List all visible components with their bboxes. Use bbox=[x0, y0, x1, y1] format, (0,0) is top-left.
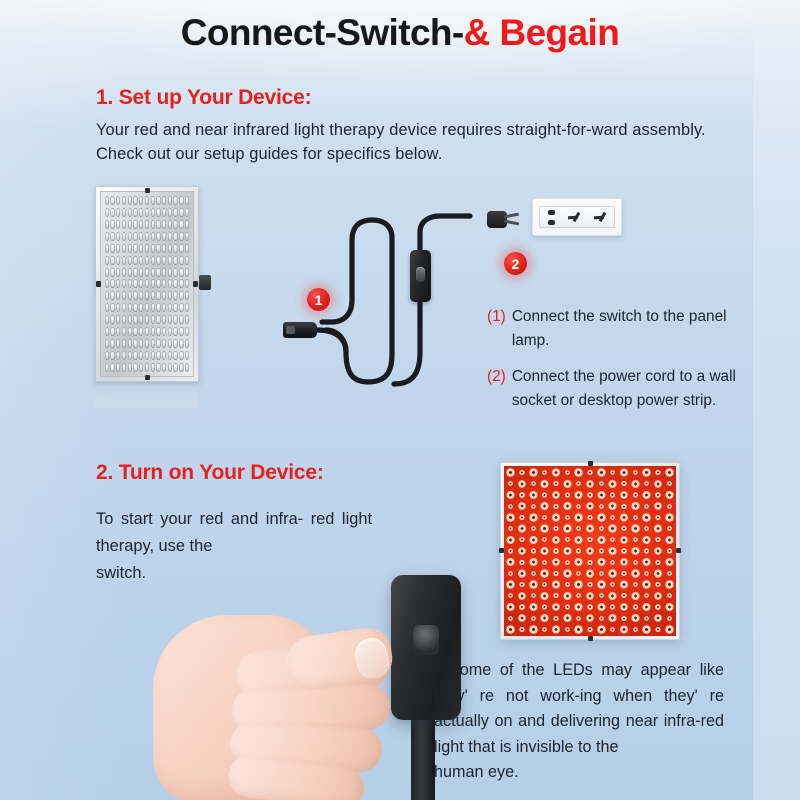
led-lit bbox=[596, 613, 607, 624]
led-lit bbox=[652, 590, 663, 601]
led-lit bbox=[607, 489, 618, 500]
led-lit bbox=[641, 489, 652, 500]
led-lit bbox=[607, 478, 618, 489]
led-lit bbox=[573, 579, 584, 590]
panel-face-lit bbox=[504, 466, 676, 636]
led-lit bbox=[607, 523, 618, 534]
led-lit bbox=[573, 545, 584, 556]
led-lit bbox=[618, 613, 629, 624]
rocker-toggle[interactable] bbox=[416, 267, 425, 282]
inline-rocker-switch[interactable] bbox=[410, 250, 431, 302]
led-lit bbox=[596, 557, 607, 568]
led-lit bbox=[516, 512, 527, 523]
led-lit bbox=[539, 467, 550, 478]
led-lit bbox=[539, 512, 550, 523]
led-unlit bbox=[184, 314, 190, 326]
led-lit bbox=[584, 579, 595, 590]
socket-outlet-1 bbox=[546, 210, 557, 225]
instruction-text-1: Connect the switch to the panel lamp. bbox=[512, 305, 742, 352]
instruction-list: (1) Connect the switch to the panel lamp… bbox=[487, 305, 742, 425]
led-lit bbox=[607, 501, 618, 512]
led-lit bbox=[618, 545, 629, 556]
led-lit bbox=[630, 557, 641, 568]
led-lit bbox=[562, 489, 573, 500]
led-unlit bbox=[184, 219, 190, 231]
led-lit bbox=[573, 601, 584, 612]
led-unlit bbox=[184, 349, 190, 361]
led-lit bbox=[516, 545, 527, 556]
led-lit bbox=[528, 501, 539, 512]
led-lit bbox=[573, 613, 584, 624]
led-lit bbox=[607, 624, 618, 635]
led-unlit bbox=[184, 302, 190, 314]
led-lit bbox=[618, 601, 629, 612]
led-lit bbox=[528, 467, 539, 478]
led-lit bbox=[516, 523, 527, 534]
led-lit bbox=[607, 579, 618, 590]
panel-face bbox=[100, 191, 194, 377]
led-lit bbox=[505, 590, 516, 601]
led-lit bbox=[618, 534, 629, 545]
led-lit bbox=[516, 534, 527, 545]
led-lit bbox=[562, 557, 573, 568]
led-lit bbox=[596, 601, 607, 612]
socket-plate bbox=[539, 206, 615, 228]
led-lit bbox=[516, 501, 527, 512]
led-lit bbox=[607, 512, 618, 523]
led-lit bbox=[550, 467, 561, 478]
led-lit bbox=[618, 557, 629, 568]
led-lit bbox=[516, 624, 527, 635]
led-lit bbox=[505, 568, 516, 579]
led-lit bbox=[573, 501, 584, 512]
led-lit bbox=[528, 534, 539, 545]
led-lit bbox=[596, 501, 607, 512]
led-lit bbox=[664, 568, 675, 579]
led-lit bbox=[539, 501, 550, 512]
led-lit bbox=[528, 512, 539, 523]
led-lit bbox=[516, 579, 527, 590]
led-lit bbox=[630, 624, 641, 635]
led-lit bbox=[505, 601, 516, 612]
led-lit bbox=[573, 590, 584, 601]
led-lit bbox=[652, 624, 663, 635]
led-lit bbox=[550, 489, 561, 500]
led-lit bbox=[562, 568, 573, 579]
led-lit bbox=[573, 467, 584, 478]
led-lit bbox=[664, 512, 675, 523]
led-lit bbox=[641, 624, 652, 635]
handheld-rocker-toggle[interactable] bbox=[413, 625, 439, 655]
led-lit bbox=[641, 601, 652, 612]
led-lit bbox=[596, 590, 607, 601]
page-title: Connect-Switch-& Begain bbox=[0, 12, 800, 54]
led-lit bbox=[584, 512, 595, 523]
footnote-line-main: * Some of the LEDs may appear like they'… bbox=[434, 661, 724, 756]
led-lit bbox=[550, 590, 561, 601]
page-title-accent: & Begain bbox=[464, 12, 620, 53]
led-lit bbox=[562, 601, 573, 612]
led-lit bbox=[664, 613, 675, 624]
led-lit bbox=[630, 613, 641, 624]
led-lit bbox=[618, 590, 629, 601]
led-lit bbox=[652, 613, 663, 624]
instruction-number-1: (1) bbox=[487, 305, 506, 352]
led-lit bbox=[584, 523, 595, 534]
led-lit bbox=[652, 601, 663, 612]
led-lit bbox=[641, 534, 652, 545]
led-lit bbox=[584, 478, 595, 489]
section-1-heading: 1. Set up Your Device: bbox=[96, 86, 311, 110]
socket-outlet-3 bbox=[594, 211, 609, 224]
led-lit bbox=[528, 478, 539, 489]
led-lit bbox=[562, 512, 573, 523]
led-lit bbox=[539, 568, 550, 579]
led-unlit bbox=[184, 361, 190, 373]
led-lit bbox=[664, 545, 675, 556]
led-lit bbox=[562, 478, 573, 489]
led-lit bbox=[641, 501, 652, 512]
led-lit bbox=[528, 579, 539, 590]
led-unlit bbox=[184, 242, 190, 254]
led-panel-lit bbox=[500, 462, 680, 640]
led-lit bbox=[550, 601, 561, 612]
led-grid-lit bbox=[505, 467, 675, 635]
led-lit bbox=[630, 545, 641, 556]
led-lit bbox=[630, 478, 641, 489]
wall-socket bbox=[532, 198, 622, 236]
led-lit bbox=[641, 478, 652, 489]
led-lit bbox=[539, 534, 550, 545]
led-unlit bbox=[184, 337, 190, 349]
led-lit bbox=[562, 534, 573, 545]
led-lit bbox=[550, 523, 561, 534]
led-lit bbox=[562, 545, 573, 556]
led-lit bbox=[630, 523, 641, 534]
mount-hole-top bbox=[145, 188, 150, 193]
mount-hole-bottom bbox=[145, 375, 150, 380]
led-lit bbox=[562, 624, 573, 635]
led-lit bbox=[584, 624, 595, 635]
led-lit bbox=[618, 512, 629, 523]
led-lit bbox=[528, 523, 539, 534]
led-lit bbox=[664, 523, 675, 534]
led-lit bbox=[516, 489, 527, 500]
mount-hole-right-lit bbox=[676, 548, 681, 553]
led-lit bbox=[539, 613, 550, 624]
section-2-line-1: To start your red and infra- bbox=[96, 510, 303, 528]
led-lit bbox=[550, 613, 561, 624]
led-lit bbox=[641, 557, 652, 568]
instruction-item-2: (2) Connect the power cord to a wall soc… bbox=[487, 365, 742, 412]
led-lit bbox=[641, 467, 652, 478]
footnote-text: * Some of the LEDs may appear like they'… bbox=[434, 658, 724, 786]
led-lit bbox=[618, 568, 629, 579]
led-lit bbox=[607, 568, 618, 579]
switch-cord bbox=[411, 712, 435, 800]
two-prong-plug bbox=[487, 207, 521, 231]
led-lit bbox=[528, 590, 539, 601]
led-lit bbox=[539, 557, 550, 568]
led-unlit bbox=[184, 254, 190, 266]
section-2-heading: 2. Turn on Your Device: bbox=[96, 461, 324, 485]
led-lit bbox=[664, 624, 675, 635]
led-lit bbox=[573, 624, 584, 635]
led-lit bbox=[630, 534, 641, 545]
led-lit bbox=[652, 467, 663, 478]
led-lit bbox=[516, 467, 527, 478]
mount-hole-top-lit bbox=[588, 461, 593, 466]
led-lit bbox=[652, 557, 663, 568]
led-lit bbox=[584, 534, 595, 545]
led-lit bbox=[618, 478, 629, 489]
led-lit bbox=[505, 557, 516, 568]
led-lit bbox=[584, 467, 595, 478]
led-lit bbox=[562, 590, 573, 601]
led-lit bbox=[516, 601, 527, 612]
led-lit bbox=[505, 545, 516, 556]
led-unlit bbox=[184, 290, 190, 302]
led-lit bbox=[505, 624, 516, 635]
section-1-body: Your red and near infrared light therapy… bbox=[96, 118, 716, 166]
led-lit bbox=[505, 534, 516, 545]
led-lit bbox=[584, 590, 595, 601]
led-lit bbox=[562, 613, 573, 624]
led-lit bbox=[630, 579, 641, 590]
led-lit bbox=[630, 568, 641, 579]
led-lit bbox=[596, 579, 607, 590]
led-lit bbox=[664, 590, 675, 601]
led-lit bbox=[505, 501, 516, 512]
led-lit bbox=[596, 534, 607, 545]
led-lit bbox=[596, 624, 607, 635]
led-lit bbox=[573, 489, 584, 500]
led-lit bbox=[618, 489, 629, 500]
instruction-text-2: Connect the power cord to a wall socket … bbox=[512, 365, 742, 412]
led-lit bbox=[550, 478, 561, 489]
led-lit bbox=[550, 568, 561, 579]
led-lit bbox=[584, 613, 595, 624]
led-lit bbox=[652, 545, 663, 556]
led-lit bbox=[641, 512, 652, 523]
mount-hole-right bbox=[193, 281, 198, 287]
led-lit bbox=[550, 579, 561, 590]
led-lit bbox=[664, 489, 675, 500]
led-lit bbox=[516, 478, 527, 489]
led-lit bbox=[652, 512, 663, 523]
led-lit bbox=[652, 478, 663, 489]
led-lit bbox=[618, 523, 629, 534]
led-lit bbox=[505, 512, 516, 523]
led-lit bbox=[641, 523, 652, 534]
led-unlit bbox=[184, 278, 190, 290]
footnote-line-last: human eye. bbox=[434, 760, 724, 786]
led-lit bbox=[596, 489, 607, 500]
led-lit bbox=[618, 624, 629, 635]
led-lit bbox=[596, 478, 607, 489]
led-lit bbox=[618, 501, 629, 512]
led-lit bbox=[539, 489, 550, 500]
led-lit bbox=[562, 467, 573, 478]
led-lit bbox=[562, 579, 573, 590]
led-lit bbox=[607, 545, 618, 556]
led-lit bbox=[664, 467, 675, 478]
led-lit bbox=[573, 568, 584, 579]
led-lit bbox=[596, 467, 607, 478]
led-lit bbox=[584, 501, 595, 512]
led-lit bbox=[618, 467, 629, 478]
led-lit bbox=[652, 534, 663, 545]
led-lit bbox=[607, 534, 618, 545]
led-lit bbox=[630, 501, 641, 512]
callout-badge-1: 1 bbox=[307, 288, 330, 311]
led-lit bbox=[573, 534, 584, 545]
led-lit bbox=[664, 501, 675, 512]
led-lit bbox=[505, 579, 516, 590]
led-lit bbox=[630, 601, 641, 612]
led-panel-unlit bbox=[95, 186, 199, 382]
led-lit bbox=[539, 624, 550, 635]
led-grid-unlit bbox=[103, 194, 191, 374]
led-lit bbox=[652, 489, 663, 500]
led-lit bbox=[528, 545, 539, 556]
iec-connector bbox=[283, 322, 317, 338]
led-lit bbox=[664, 579, 675, 590]
led-lit bbox=[641, 568, 652, 579]
led-lit bbox=[618, 579, 629, 590]
callout-badge-2: 2 bbox=[504, 252, 527, 275]
led-unlit bbox=[184, 231, 190, 243]
led-lit bbox=[596, 512, 607, 523]
led-lit bbox=[505, 523, 516, 534]
socket-outlet-2 bbox=[568, 211, 583, 224]
led-lit bbox=[596, 523, 607, 534]
led-lit bbox=[562, 523, 573, 534]
led-lit bbox=[516, 590, 527, 601]
led-lit bbox=[573, 557, 584, 568]
led-lit bbox=[641, 579, 652, 590]
led-lit bbox=[528, 557, 539, 568]
led-lit bbox=[539, 545, 550, 556]
led-lit bbox=[652, 523, 663, 534]
led-lit bbox=[528, 601, 539, 612]
page-title-main: Connect-Switch- bbox=[181, 12, 464, 53]
led-unlit bbox=[184, 195, 190, 207]
right-margin-strip bbox=[753, 0, 800, 800]
led-lit bbox=[550, 501, 561, 512]
led-unlit bbox=[184, 207, 190, 219]
led-lit bbox=[505, 467, 516, 478]
led-lit bbox=[539, 478, 550, 489]
led-lit bbox=[652, 568, 663, 579]
led-lit bbox=[550, 534, 561, 545]
led-lit bbox=[641, 613, 652, 624]
led-lit bbox=[573, 478, 584, 489]
led-lit bbox=[550, 624, 561, 635]
led-lit bbox=[630, 467, 641, 478]
led-lit bbox=[607, 601, 618, 612]
led-lit bbox=[664, 534, 675, 545]
led-lit bbox=[596, 568, 607, 579]
led-lit bbox=[539, 523, 550, 534]
led-lit bbox=[652, 501, 663, 512]
led-lit bbox=[573, 512, 584, 523]
mount-hole-left bbox=[96, 281, 101, 287]
mount-hole-bottom-lit bbox=[588, 636, 593, 641]
led-lit bbox=[630, 489, 641, 500]
led-lit bbox=[528, 624, 539, 635]
led-lit bbox=[607, 557, 618, 568]
led-lit bbox=[584, 568, 595, 579]
led-lit bbox=[584, 601, 595, 612]
led-lit bbox=[505, 478, 516, 489]
led-lit bbox=[539, 601, 550, 612]
led-lit bbox=[664, 601, 675, 612]
led-lit bbox=[630, 590, 641, 601]
led-lit bbox=[528, 568, 539, 579]
led-lit bbox=[562, 501, 573, 512]
led-lit bbox=[607, 613, 618, 624]
led-lit bbox=[550, 557, 561, 568]
led-lit bbox=[516, 557, 527, 568]
led-lit bbox=[641, 590, 652, 601]
led-lit bbox=[539, 590, 550, 601]
panel-power-port bbox=[199, 275, 211, 290]
led-lit bbox=[664, 557, 675, 568]
led-lit bbox=[596, 545, 607, 556]
led-lit bbox=[550, 512, 561, 523]
instruction-number-2: (2) bbox=[487, 365, 506, 412]
led-lit bbox=[664, 478, 675, 489]
led-lit bbox=[607, 467, 618, 478]
led-lit bbox=[516, 568, 527, 579]
panel-reflection bbox=[95, 382, 199, 408]
led-lit bbox=[641, 545, 652, 556]
led-lit bbox=[652, 579, 663, 590]
led-lit bbox=[528, 489, 539, 500]
led-unlit bbox=[184, 326, 190, 338]
instruction-item-1: (1) Connect the switch to the panel lamp… bbox=[487, 305, 742, 352]
led-lit bbox=[505, 489, 516, 500]
led-lit bbox=[573, 523, 584, 534]
led-lit bbox=[550, 545, 561, 556]
mount-hole-left-lit bbox=[499, 548, 504, 553]
led-lit bbox=[584, 545, 595, 556]
hand-pressing-switch bbox=[120, 560, 430, 800]
led-lit bbox=[584, 557, 595, 568]
infographic-page: Connect-Switch-& Begain 1. Set up Your D… bbox=[0, 0, 800, 800]
led-lit bbox=[607, 590, 618, 601]
led-lit bbox=[516, 613, 527, 624]
led-lit bbox=[505, 613, 516, 624]
led-unlit bbox=[184, 266, 190, 278]
led-lit bbox=[630, 512, 641, 523]
led-lit bbox=[584, 489, 595, 500]
led-lit bbox=[539, 579, 550, 590]
led-lit bbox=[528, 613, 539, 624]
